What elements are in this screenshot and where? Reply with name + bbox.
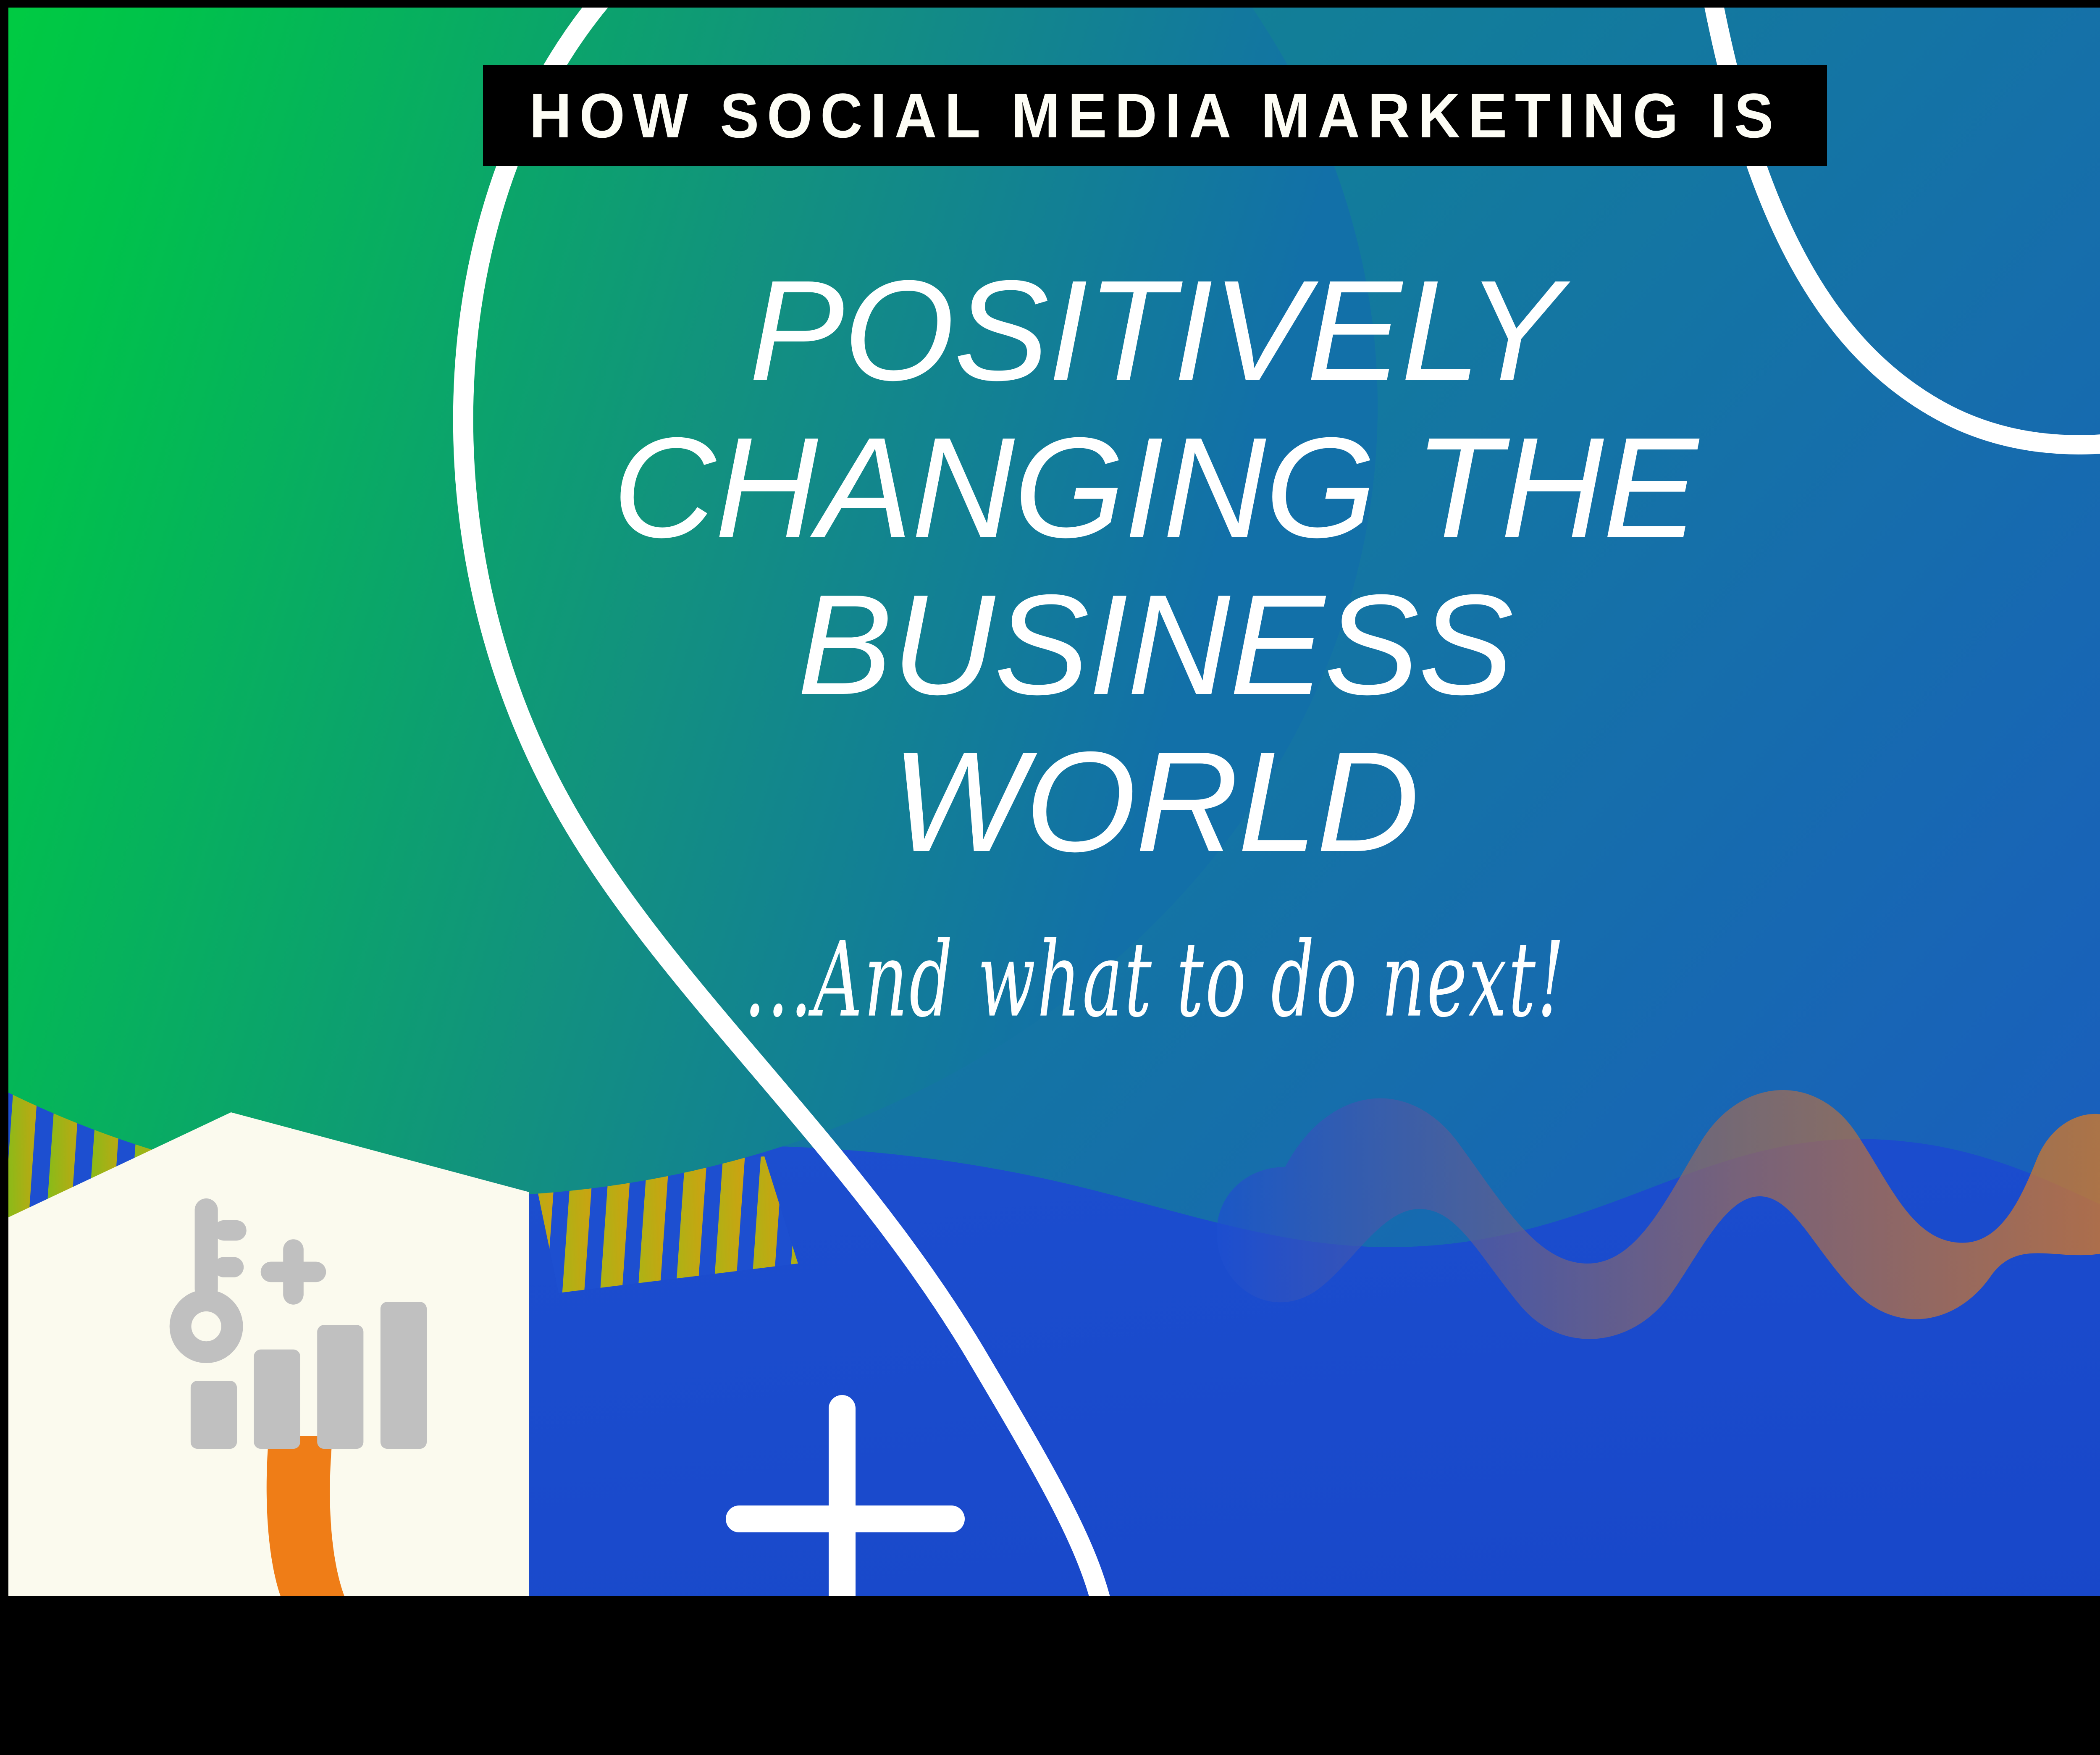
bar-2 bbox=[254, 1350, 300, 1449]
artwork-background bbox=[8, 8, 2100, 1596]
bar-1 bbox=[191, 1381, 237, 1449]
bar-4 bbox=[381, 1302, 427, 1449]
bar-3 bbox=[317, 1325, 363, 1449]
slide-canvas: HOW SOCIAL MEDIA MARKETING IS POSITIVELY… bbox=[0, 0, 2100, 1755]
